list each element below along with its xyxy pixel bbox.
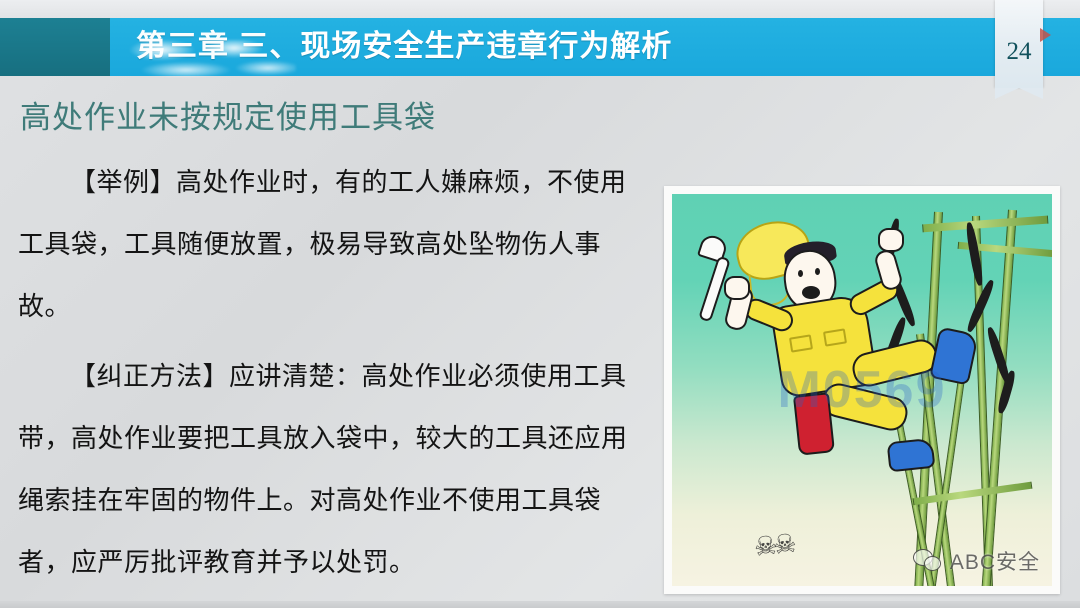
slide-canvas: 第三章 三、现场安全生产违章行为解析 24 高处作业未按规定使用工具袋 【举例】… [0,0,1080,608]
section-subtitle: 高处作业未按规定使用工具袋 [20,92,436,137]
skull-and-crossbones-icon: ☠☠ [752,528,794,563]
worker-right-hand [878,228,904,252]
bottom-strip [0,601,1080,608]
worker-lower-leg [819,380,911,434]
worker-eye [815,268,820,275]
worker-mouth [802,286,820,299]
illustration-frame: ☠☠ M0569 ABC安全 [664,186,1060,594]
slide-title-main: 现场安全生产违章行为解析 [300,30,672,63]
red-toolbag [793,392,835,455]
worker-left-hand [724,276,750,300]
scaffold-crossbar [913,482,1033,506]
paragraph-correction: 【纠正方法】应讲清楚：高处作业必须使用工具带，高处作业要把工具放入袋中，较大的工… [18,346,650,594]
top-strip [0,0,1080,18]
worker-shoe [887,438,936,473]
worker-eye [798,270,803,277]
rope [965,222,985,287]
illustration-image: ☠☠ M0569 ABC安全 [672,194,1052,586]
paragraph-correction-text: 【纠正方法】应讲清楚：高处作业必须使用工具带，高处作业要把工具放入袋中，较大的工… [18,362,628,578]
slide-title: 第三章 三、现场安全生产违章行为解析 [136,18,672,76]
ribbon-pointer-icon [1040,28,1051,42]
title-bar: 第三章 三、现场安全生产违章行为解析 [0,18,1080,76]
page-number: 24 [995,38,1043,66]
paragraph-example-text: 【举例】高处作业时，有的工人嫌麻烦，不使用工具袋，工具随便放置，极易导致高处坠物… [18,168,627,322]
paragraph-example: 【举例】高处作业时，有的工人嫌麻烦，不使用工具袋，工具随便放置，极易导致高处坠物… [18,152,650,338]
slide-title-prefix: 第三章 三、 [136,30,300,63]
corner-watermark-text: ABC安全 [950,546,1040,576]
title-bar-left-block [0,18,110,76]
body-text-column: 【举例】高处作业时，有的工人嫌麻烦，不使用工具袋，工具随便放置，极易导致高处坠物… [18,152,650,594]
page-number-ribbon: 24 [995,0,1043,88]
